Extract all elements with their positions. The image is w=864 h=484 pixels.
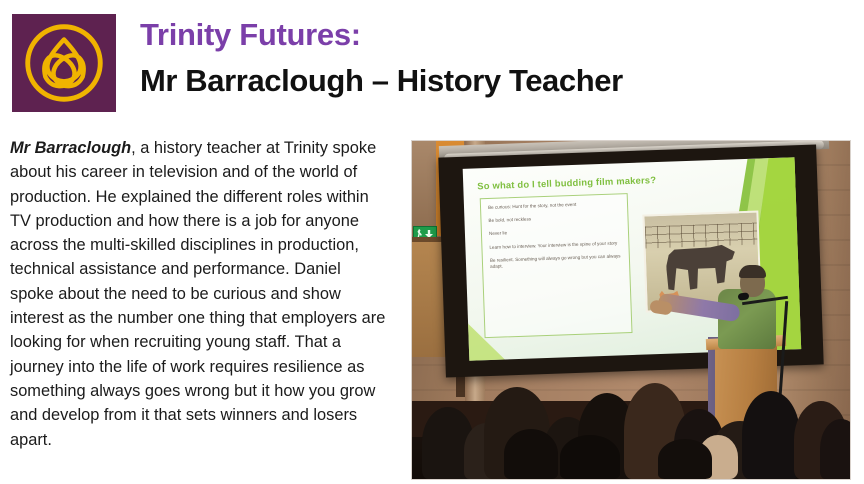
slide-bullet: Be curious: Hunt for the story, not the … (488, 200, 620, 211)
slide-bullet: Be bold, not reckless (488, 214, 620, 225)
speaker-hair (739, 265, 766, 278)
article-paragraph: , a history teacher at Trinity spoke abo… (10, 139, 385, 449)
page-title-secondary: Mr Barraclough – History Teacher (140, 61, 860, 101)
slide-bullet: Be resilient. Something will always go w… (490, 253, 622, 270)
audience-silhouettes (412, 349, 851, 479)
assembly-photo: So what do I tell budding film makers? B… (411, 140, 851, 480)
slide-bullet-box: Be curious: Hunt for the story, not the … (480, 193, 633, 338)
title-block: Trinity Futures: Mr Barraclough – Histor… (140, 16, 860, 101)
page-title-primary: Trinity Futures: (140, 16, 860, 55)
page-header: Trinity Futures: Mr Barraclough – Histor… (0, 0, 864, 132)
article-lead-name: Mr Barraclough (10, 139, 131, 157)
newsletter-page: Trinity Futures: Mr Barraclough – Histor… (0, 0, 864, 484)
slide-title: So what do I tell budding film makers? (477, 170, 777, 191)
slide-bullet: Never lie (489, 227, 621, 238)
trinity-triquetra-logo (12, 14, 116, 112)
slide-bullet: Learn how to interview. Your interview i… (489, 240, 621, 251)
article-body: Mr Barraclough, a history teacher at Tri… (10, 136, 388, 452)
